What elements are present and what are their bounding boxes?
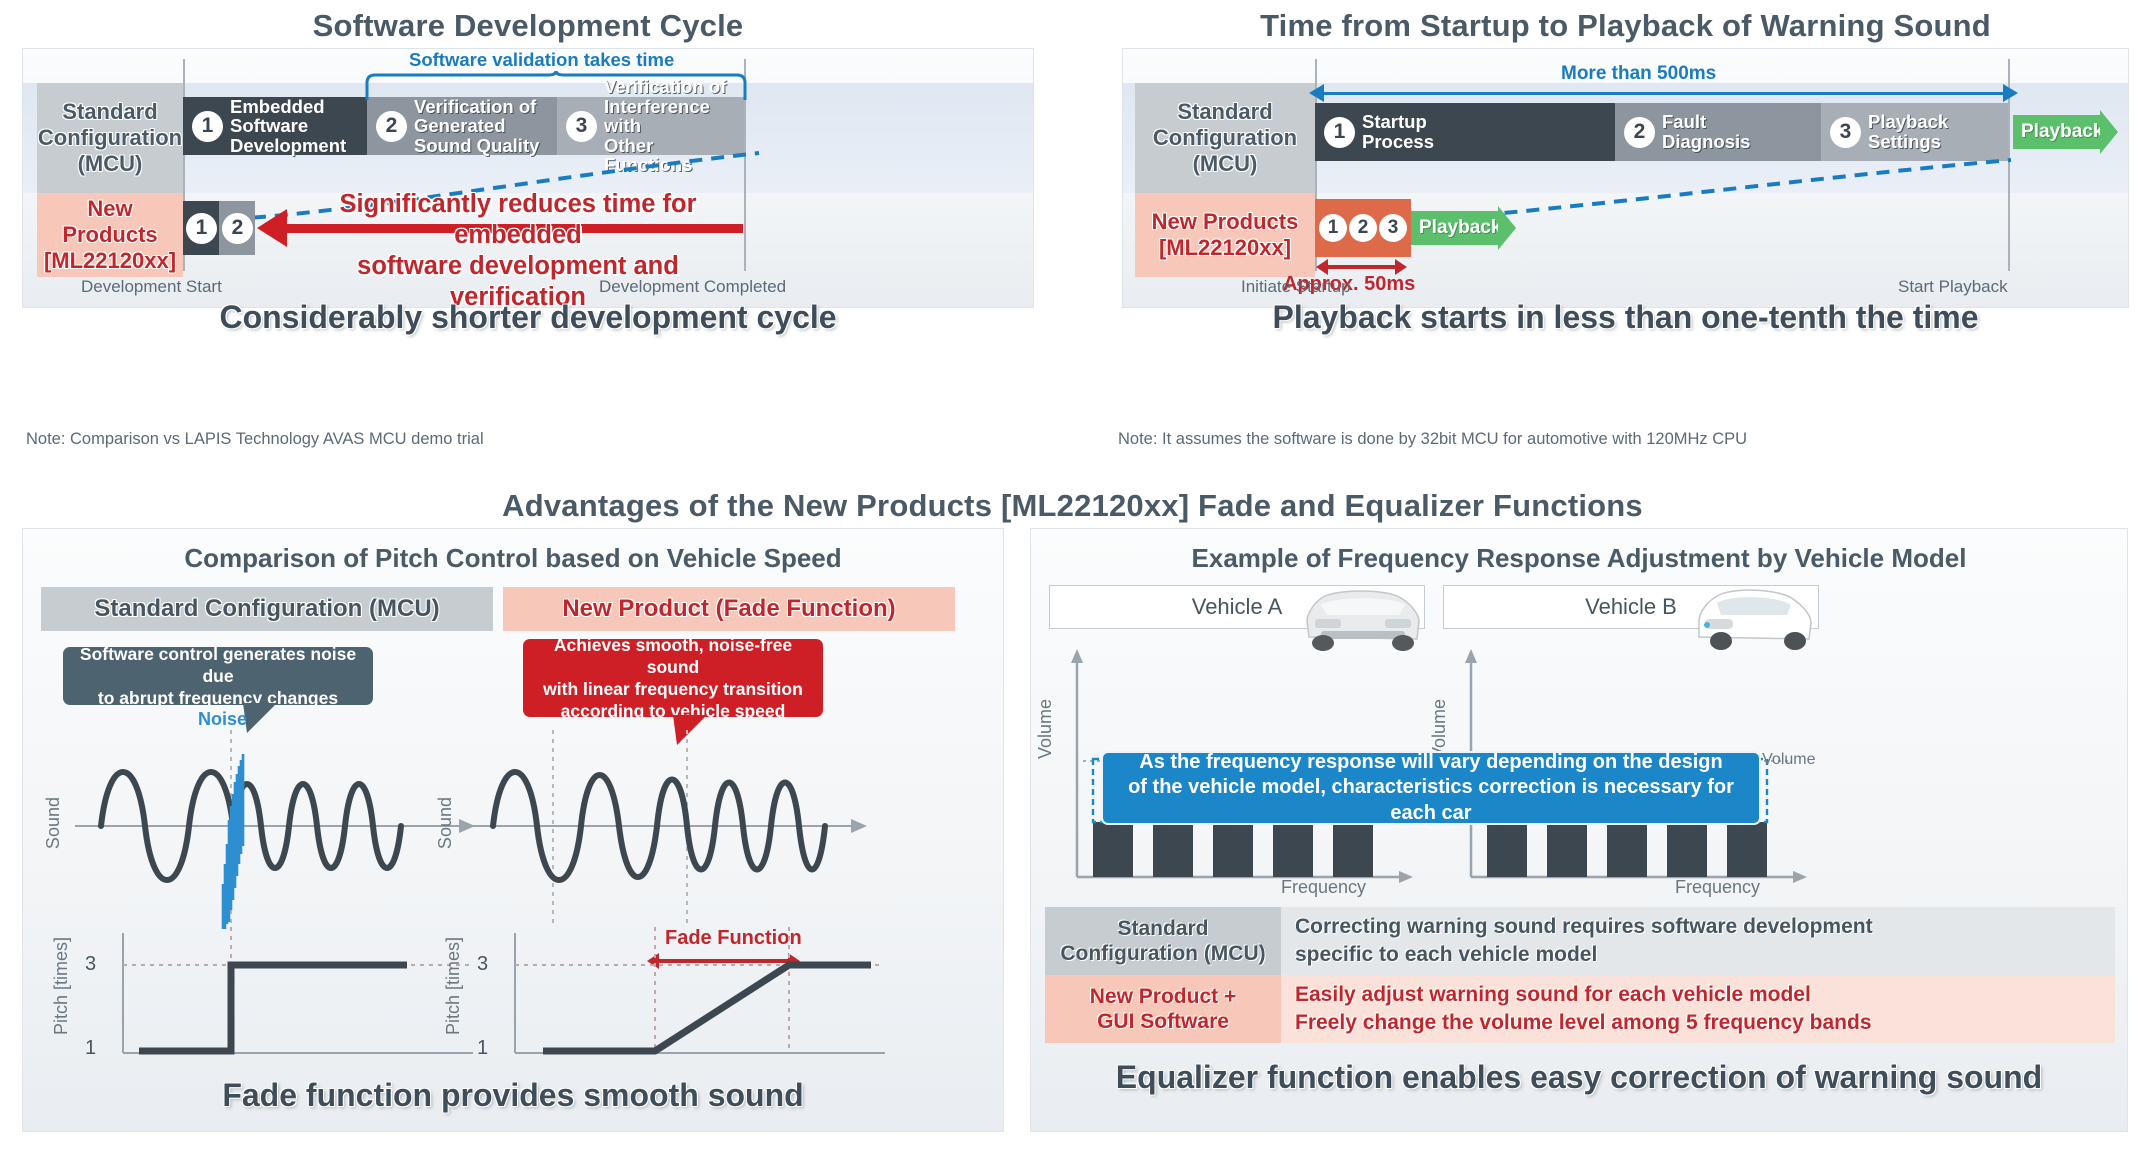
more-than-500ms-arrow — [1321, 92, 2005, 95]
callout-fade-smooth: Achieves smooth, noise-free sound with l… — [523, 639, 823, 717]
vehicle-a-car-icon — [1299, 581, 1427, 653]
row-label-new-products-right: New Products [ML22120xx] — [1135, 193, 1315, 277]
table-row-standard-body: Correcting warning sound requires softwa… — [1281, 907, 2115, 975]
phase-number-2: 2 — [376, 111, 407, 142]
table-row-standard-config: Standard Configuration (MCU) Correcting … — [1045, 907, 2115, 975]
phase-verification-interference: 3 Verification of Interference with Othe… — [557, 97, 744, 155]
more-than-500ms-arrow-head-left — [1309, 84, 1324, 102]
phase-right-3-text: Playback Settings — [1868, 112, 1948, 151]
more-than-500ms-label: More than 500ms — [1561, 63, 1716, 85]
infographic-page: Software Development Cycle Standard Conf… — [0, 0, 2145, 1163]
phase-verification-generated-sound-quality: 2 Verification of Generated Sound Qualit… — [367, 97, 557, 155]
phase-right-number-1: 1 — [1324, 117, 1355, 148]
development-start-caption: Development Start — [81, 277, 222, 297]
software-development-cycle-card: Standard Configuration (MCU) New Product… — [22, 48, 1034, 308]
approx-50ms-arrow — [1328, 265, 1396, 269]
row-new-right-line2: [ML22120xx] — [1159, 235, 1291, 261]
bottom-left-conclusion: Fade function provides smooth sound — [23, 1077, 1003, 1114]
waveform-chart-fade — [453, 724, 873, 929]
frequency-response-card: Example of Frequency Response Adjustment… — [1030, 528, 2128, 1132]
row-std-right-line3: (MCU) — [1193, 151, 1258, 177]
red-reduction-arrow-head — [257, 209, 287, 247]
frequency-axis-label-a: Frequency — [1281, 877, 1366, 898]
phase-startup-process: 1 Startup Process — [1315, 103, 1615, 161]
volume-axis-label-a: Volume — [1035, 699, 1056, 759]
phase-right-number-2: 2 — [1624, 117, 1655, 148]
phase-number-3: 3 — [566, 111, 597, 142]
pitch-axis-label-right: Pitch [times] — [443, 937, 464, 1035]
playback-arrow-standard-label: Playback — [2021, 121, 2103, 143]
new-phase-numbers-right: 1 2 3 — [1315, 199, 1411, 257]
validation-brace — [363, 71, 748, 101]
startup-to-playback-card: Standard Configuration (MCU) New Product… — [1122, 48, 2129, 308]
sound-axis-label-left: Sound — [43, 797, 64, 849]
callout-software-noise: Software control generates noise due to … — [63, 647, 373, 705]
sound-axis-label-right: Sound — [435, 797, 456, 849]
playback-arrow-new-label: Playback — [1419, 217, 1501, 239]
pitch-tick-1-right: 1 — [477, 1037, 488, 1060]
playback-arrow-new: Playback — [1411, 211, 1499, 245]
callout-frequency-response: As the frequency response will vary depe… — [1101, 751, 1761, 825]
bottom-section-title: Advantages of the New Products [ML22120x… — [0, 488, 2145, 524]
pitch-step-chart-standard — [101, 927, 481, 1069]
phase-fault-diagnosis: 2 Fault Diagnosis — [1615, 103, 1821, 161]
phase-1-text: Embedded Software Development — [230, 97, 346, 156]
new-phase-number-2: 2 — [222, 213, 253, 244]
table-row-new-head: New Product + GUI Software — [1045, 975, 1281, 1043]
development-completed-caption: Development Completed — [599, 277, 786, 297]
row-std-line3: (MCU) — [78, 151, 143, 177]
pitch-control-subtitle: Comparison of Pitch Control based on Veh… — [23, 543, 1003, 574]
phase-right-1-text: Startup Process — [1362, 112, 1434, 151]
playback-arrow-standard: Playback — [2013, 115, 2101, 149]
top-right-note: Note: It assumes the software is done by… — [1118, 430, 1747, 449]
row-std-right-line1: Standard — [1177, 99, 1272, 125]
phase-number-1: 1 — [192, 111, 223, 142]
row-new-line2: [ML22120xx] — [44, 248, 176, 274]
bottom-right-conclusion: Equalizer function enables easy correcti… — [1031, 1059, 2127, 1096]
new-phase-right-number-2: 2 — [1349, 214, 1377, 242]
row-label-standard-config-right: Standard Configuration (MCU) — [1135, 83, 1315, 193]
vehicle-b-car-icon — [1691, 581, 1819, 653]
table-row-new-body: Easily adjust warning sound for each veh… — [1281, 975, 2115, 1043]
frequency-axis-label-b: Frequency — [1675, 877, 1760, 898]
new-phase-2: 2 — [219, 201, 255, 255]
table-row-new-product: New Product + GUI Software Easily adjust… — [1045, 975, 2115, 1043]
phase-playback-settings: 3 Playback Settings — [1821, 103, 2008, 161]
new-phase-number-1: 1 — [186, 213, 217, 244]
row-std-line2: Configuration — [38, 125, 182, 151]
phase-right-number-3: 3 — [1830, 117, 1861, 148]
pitch-tick-3-right: 3 — [477, 953, 488, 976]
pitch-tick-1-left: 1 — [85, 1037, 96, 1060]
pitch-ramp-chart-fade — [493, 927, 893, 1069]
initiate-startup-caption: Initiate Startup — [1241, 277, 1351, 297]
phase-right-2-text: Fault Diagnosis — [1662, 112, 1750, 151]
pitch-axis-label-left: Pitch [times] — [51, 937, 72, 1035]
validation-brace-label: Software validation takes time — [409, 49, 674, 71]
pitch-tick-3-left: 3 — [85, 953, 96, 976]
row-new-right-line1: New Products — [1152, 209, 1299, 235]
top-left-conclusion: Considerably shorter development cycle — [23, 299, 1033, 336]
table-row-standard-head: Standard Configuration (MCU) — [1045, 907, 1281, 975]
start-playback-caption: Start Playback — [1898, 277, 2008, 297]
header-standard-config-mcu: Standard Configuration (MCU) — [41, 587, 493, 631]
new-phase-right-number-1: 1 — [1319, 214, 1347, 242]
new-phase-right-number-3: 3 — [1379, 214, 1407, 242]
top-left-note: Note: Comparison vs LAPIS Technology AVA… — [26, 430, 484, 449]
waveform-chart-standard — [61, 724, 481, 929]
phase-2-text: Verification of Generated Sound Quality — [414, 97, 539, 156]
header-new-product-fade: New Product (Fade Function) — [503, 587, 955, 631]
row-std-right-line2: Configuration — [1153, 125, 1297, 151]
row-new-line1: New Products — [37, 196, 183, 248]
row-label-new-products: New Products [ML22120xx] — [37, 193, 183, 277]
row-label-standard-config: Standard Configuration (MCU) — [37, 83, 183, 193]
reduction-message-line1: Significantly reduces time for embedded — [288, 189, 748, 251]
pitch-control-card: Comparison of Pitch Control based on Veh… — [22, 528, 1004, 1132]
row-std-line1: Standard — [62, 99, 157, 125]
more-than-500ms-arrow-head-right — [2003, 84, 2018, 102]
new-phase-1: 1 — [183, 201, 219, 255]
top-left-title: Software Development Cycle — [22, 8, 1034, 44]
phase-embedded-software-development: 1 Embedded Software Development — [183, 97, 367, 155]
top-right-title: Time from Startup to Playback of Warning… — [1122, 8, 2129, 44]
top-right-conclusion: Playback starts in less than one-tenth t… — [1123, 299, 2128, 336]
frequency-response-subtitle: Example of Frequency Response Adjustment… — [1031, 543, 2127, 574]
